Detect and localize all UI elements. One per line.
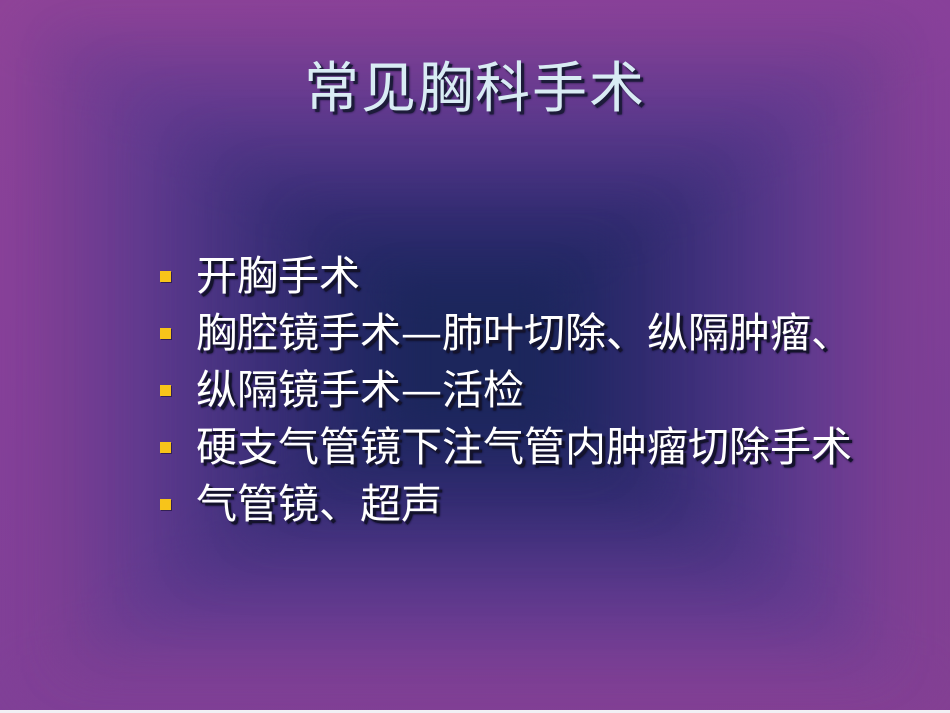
list-item: 硬支气管镜下注气管内肿瘤切除手术 bbox=[160, 419, 940, 476]
list-item: 开胸手术 bbox=[160, 248, 940, 305]
square-bullet-icon bbox=[160, 385, 171, 396]
list-item-label: 硬支气管镜下注气管内肿瘤切除手术 bbox=[196, 427, 852, 468]
presentation-slide: 常见胸科手术 开胸手术 胸腔镜手术—肺叶切除、纵隔肿瘤、 纵隔镜手术—活检 硬支… bbox=[0, 0, 950, 713]
list-item: 纵隔镜手术—活检 bbox=[160, 362, 940, 419]
list-item-label: 开胸手术 bbox=[196, 256, 360, 297]
list-item-label: 气管镜、超声 bbox=[196, 484, 442, 525]
list-item: 气管镜、超声 bbox=[160, 476, 940, 533]
square-bullet-icon bbox=[160, 499, 171, 510]
slide-title: 常见胸科手术 bbox=[0, 60, 950, 118]
bullet-list: 开胸手术 胸腔镜手术—肺叶切除、纵隔肿瘤、 纵隔镜手术—活检 硬支气管镜下注气管… bbox=[160, 248, 940, 533]
list-item-label: 纵隔镜手术—活检 bbox=[196, 370, 524, 411]
list-item-label: 胸腔镜手术—肺叶切除、纵隔肿瘤、 bbox=[196, 313, 852, 354]
square-bullet-icon bbox=[160, 328, 171, 339]
square-bullet-icon bbox=[160, 271, 171, 282]
list-item: 胸腔镜手术—肺叶切除、纵隔肿瘤、 bbox=[160, 305, 940, 362]
square-bullet-icon bbox=[160, 442, 171, 453]
